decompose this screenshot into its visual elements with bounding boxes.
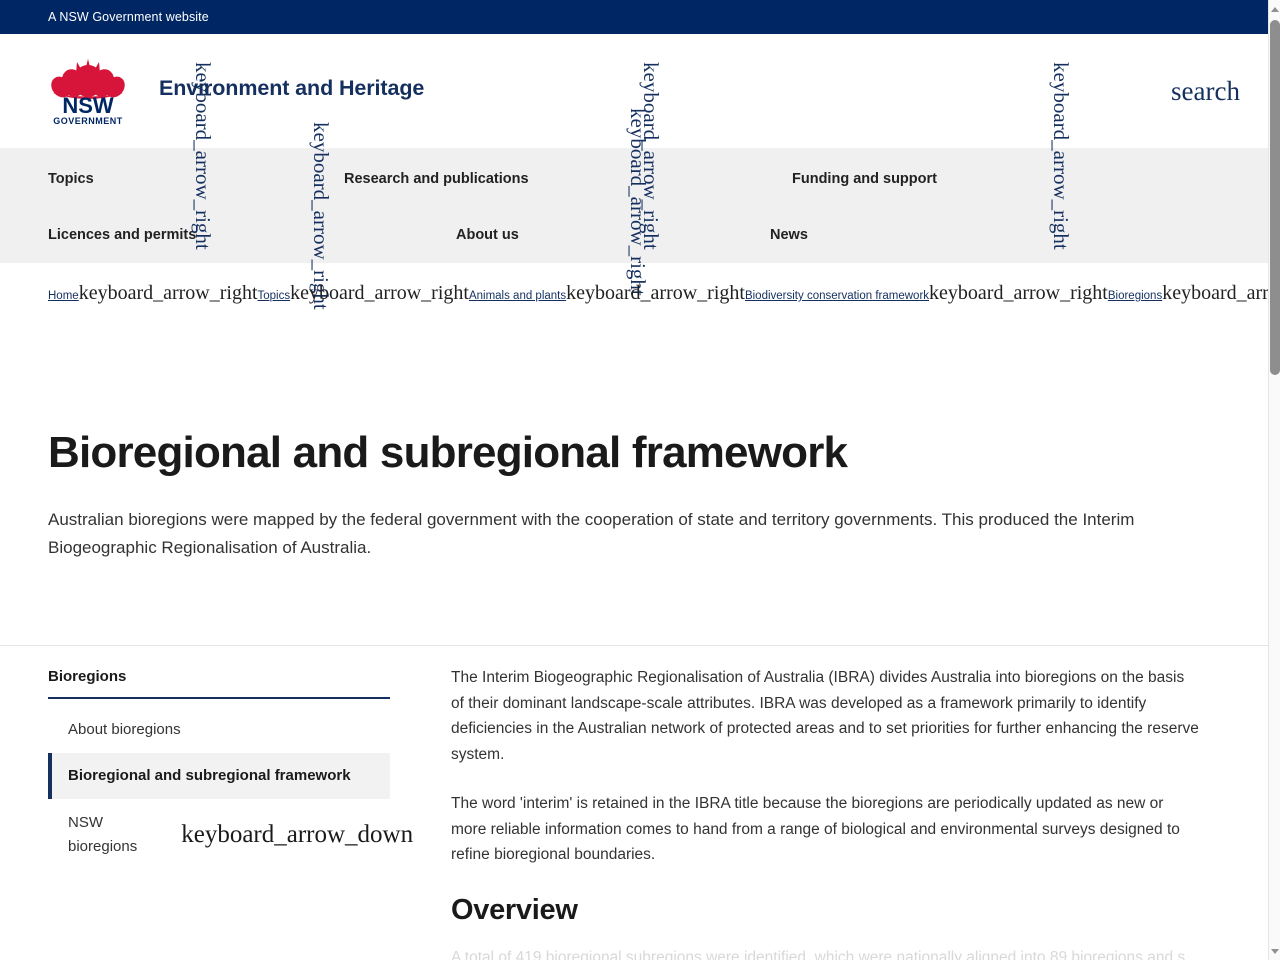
sidebar-title: Bioregions: [48, 668, 390, 697]
breadcrumb-item-biodiversity-conservation-framework[interactable]: Biodiversity conservation framework: [745, 290, 929, 302]
nav-item-about-us[interactable]: About us: [456, 227, 519, 243]
scroll-down-arrow-icon[interactable]: [1269, 944, 1280, 958]
breadcrumb-item-topics[interactable]: Topics: [258, 290, 291, 302]
government-bar: A NSW Government website: [0, 0, 1268, 34]
keyboard-arrow-right-icon: keyboard_arrow_right: [290, 282, 469, 304]
breadcrumb-item-home[interactable]: Home: [48, 290, 79, 302]
svg-text:GOVERNMENT: GOVERNMENT: [53, 116, 123, 126]
keyboard-arrow-right-icon: keyboard_arrow_right: [79, 282, 258, 304]
nav-item-licences-and-permits[interactable]: Licences and permits: [48, 227, 196, 243]
main-content: The Interim Biogeographic Regionalisatio…: [451, 665, 1199, 960]
keyboard-arrow-right-icon: keyboard_arrow_right: [566, 282, 745, 304]
section-sidebar: Bioregions About bioregions Bioregional …: [48, 668, 390, 871]
breadcrumb: Homekeyboard_arrow_rightTopicskeyboard_a…: [48, 286, 1248, 304]
keyboard-arrow-right-icon: keyboard_arrow_right: [929, 282, 1108, 304]
scrollbar-thumb[interactable]: [1270, 20, 1280, 375]
nav-item-news[interactable]: News: [770, 227, 808, 243]
nav-item-research-and-publications[interactable]: Research and publications: [344, 171, 529, 187]
content-paragraph: The word 'interim' is retained in the IB…: [451, 791, 1199, 868]
sidebar-rule: [48, 697, 390, 699]
primary-navigation: Topics Research and publications Funding…: [0, 148, 1268, 263]
overview-heading: Overview: [451, 894, 1199, 927]
breadcrumb-item-bioregions[interactable]: Bioregions: [1108, 290, 1162, 302]
sidebar-item-bioregional-and-subregional-framework[interactable]: Bioregional and subregional framework: [48, 753, 390, 799]
sidebar-item-about-bioregions[interactable]: About bioregions: [48, 707, 390, 753]
content-paragraph: The Interim Biogeographic Regionalisatio…: [451, 665, 1199, 767]
svg-text:NSW: NSW: [62, 93, 114, 118]
nsw-government-logo[interactable]: NSW GOVERNMENT: [48, 53, 128, 127]
keyboard-arrow-down-icon[interactable]: keyboard_arrow_down: [181, 824, 413, 846]
masthead: NSW GOVERNMENT Environment and Heritage …: [0, 34, 1268, 148]
sidebar-item-nsw-bioregions[interactable]: NSW bioregions keyboard_arrow_down: [48, 799, 390, 871]
nav-item-topics[interactable]: Topics: [48, 171, 94, 187]
scroll-up-arrow-icon[interactable]: [1269, 2, 1280, 16]
page-intro: Australian bioregions were mapped by the…: [48, 506, 1158, 562]
site-title[interactable]: Environment and Heritage: [159, 76, 424, 101]
breadcrumb-item-animals-and-plants[interactable]: Animals and plants: [469, 290, 566, 302]
waratah-logo-icon: NSW GOVERNMENT: [48, 53, 128, 127]
search-icon[interactable]: search: [1171, 76, 1240, 107]
page-scrollbar[interactable]: [1268, 0, 1280, 960]
overview-paragraph: A total of 419 bioregional subregions we…: [451, 945, 1199, 960]
nav-item-funding-and-support[interactable]: Funding and support: [792, 171, 937, 187]
keyboard-arrow-right-icon: keyboard_arrow_right: [1162, 282, 1280, 304]
page-root: A NSW Government website NSW GO: [0, 0, 1280, 960]
page-title: Bioregional and subregional framework: [48, 428, 847, 478]
sidebar-item-label: NSW bioregions: [68, 811, 137, 859]
government-bar-label: A NSW Government website: [48, 10, 209, 24]
section-divider: [0, 645, 1268, 646]
